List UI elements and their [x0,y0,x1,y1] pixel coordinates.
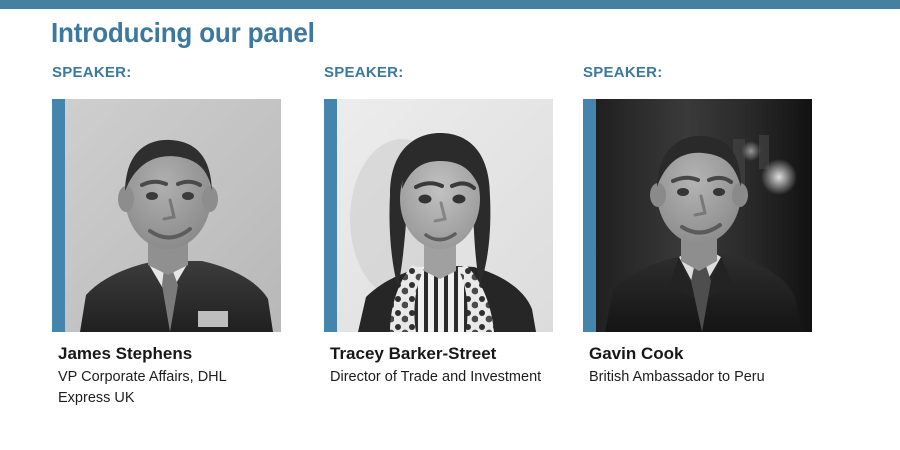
speaker-portrait [583,99,812,332]
speaker-text-block: James Stephens VP Corporate Affairs, DHL… [52,343,281,409]
speaker-role: British Ambassador to Peru [589,367,812,388]
speaker-label: SPEAKER: [324,64,553,82]
speaker-card: SPEAKER: [52,64,281,409]
photo-accent-bar [52,99,65,332]
speaker-card: SPEAKER: [324,64,553,388]
speaker-role: Director of Trade and Investment [330,367,553,388]
slide-root: Introducing our panel SPEAKER: [0,0,900,450]
speaker-photo-frame [52,99,281,332]
speaker-label: SPEAKER: [52,64,281,82]
speaker-name: Tracey Barker-Street [330,343,553,364]
speaker-text-block: Gavin Cook British Ambassador to Peru [583,343,812,388]
speaker-name: Gavin Cook [589,343,812,364]
speaker-text-block: Tracey Barker-Street Director of Trade a… [324,343,553,388]
speaker-portrait [324,99,553,332]
photo-accent-bar [324,99,337,332]
speaker-photo-frame [324,99,553,332]
speaker-card: SPEAKER: [583,64,812,388]
photo-accent-bar [583,99,596,332]
speakers-row: SPEAKER: [0,0,900,450]
speaker-photo-frame [583,99,812,332]
speaker-label: SPEAKER: [583,64,812,82]
speaker-name: James Stephens [58,343,281,364]
speaker-portrait [52,99,281,332]
speaker-role: VP Corporate Affairs, DHL Express UK [58,367,270,409]
